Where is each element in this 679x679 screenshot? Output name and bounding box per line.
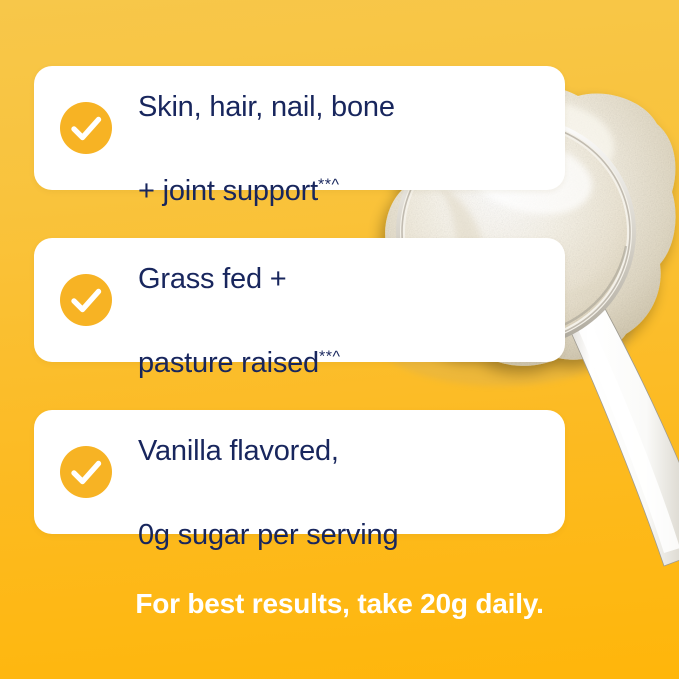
benefit-card: Vanilla flavored, 0g sugar per serving bbox=[34, 410, 565, 534]
check-icon bbox=[60, 102, 112, 154]
benefit-text: Vanilla flavored, 0g sugar per serving bbox=[138, 388, 398, 556]
benefit-line-1: Vanilla flavored, bbox=[138, 435, 339, 467]
measuring-scoop-handle bbox=[556, 292, 679, 566]
benefit-line-2: 0g sugar per serving bbox=[138, 519, 398, 551]
benefit-card: Skin, hair, nail, bone + joint support**… bbox=[34, 66, 565, 190]
benefit-line-2: + joint support bbox=[138, 175, 318, 207]
benefit-line-1: Grass fed + bbox=[138, 263, 287, 295]
footnote-marker: **^ bbox=[318, 176, 339, 193]
benefit-text: Grass fed + pasture raised**^ bbox=[138, 216, 340, 384]
benefit-line-1: Skin, hair, nail, bone bbox=[138, 91, 395, 123]
check-icon bbox=[60, 274, 112, 326]
check-icon bbox=[60, 446, 112, 498]
benefit-card-list: Skin, hair, nail, bone + joint support**… bbox=[34, 66, 565, 534]
footer-tagline: For best results, take 20g daily. bbox=[0, 588, 679, 620]
footnote-marker: **^ bbox=[319, 348, 340, 365]
benefit-card: Grass fed + pasture raised**^ bbox=[34, 238, 565, 362]
benefit-text: Skin, hair, nail, bone + joint support**… bbox=[138, 44, 395, 212]
product-benefits-poster: Skin, hair, nail, bone + joint support**… bbox=[0, 0, 679, 679]
benefit-line-2: pasture raised bbox=[138, 347, 319, 379]
